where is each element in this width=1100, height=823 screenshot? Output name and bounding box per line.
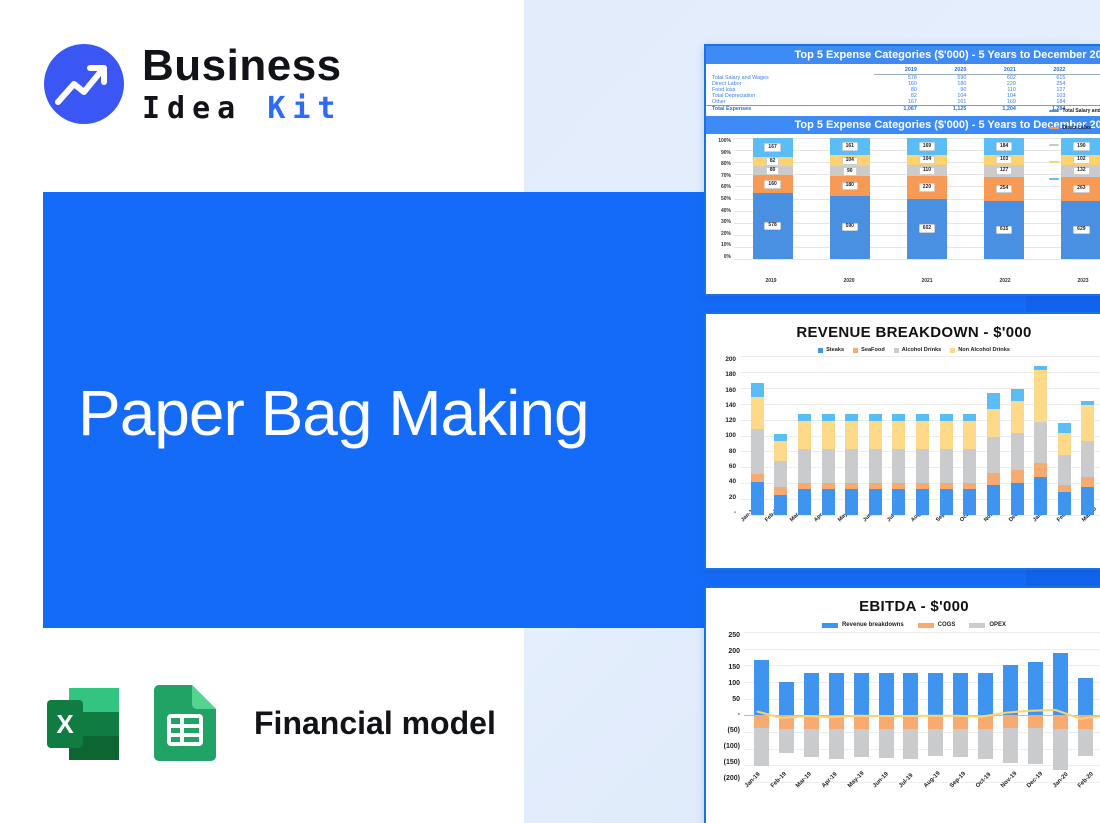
stacked-segment — [1011, 470, 1024, 483]
legend-swatch — [853, 348, 858, 353]
stacked-segment: 615 — [984, 201, 1024, 259]
stacked-segment — [822, 414, 835, 421]
logo-kit-text: Kit — [267, 91, 342, 126]
table-cell: 1,067 — [874, 106, 924, 113]
stacked-segment — [751, 383, 764, 397]
legend-label: SeaFood — [861, 347, 885, 353]
legend-swatch — [950, 348, 955, 353]
table-col-head: 2021 — [973, 67, 1023, 75]
table-col-head: 2020 — [924, 67, 974, 75]
stacked-segment: 102 — [1061, 155, 1100, 164]
stacked-y-axis: 100%90%80%70%60%50%40%30%20%10%0% — [708, 138, 734, 260]
legend-label: Revenue breakdowns — [842, 622, 904, 628]
stacked-segment — [798, 489, 811, 515]
stacked-segment — [987, 485, 1000, 515]
stacked-segment — [1034, 463, 1047, 477]
footer-label: Financial model — [254, 705, 496, 742]
stacked-segment — [963, 449, 976, 483]
stacked-segment: 127 — [984, 165, 1024, 177]
logo-line-2: Idea Kit — [142, 94, 343, 124]
stacked-bar — [987, 393, 1000, 515]
axis-tick: 80% — [708, 161, 731, 167]
axis-tick: 200 — [728, 648, 740, 655]
stacked-plot-area: 1678280160578161104901805901691041102206… — [734, 138, 1100, 260]
data-label: 629 — [1073, 226, 1089, 235]
stacked-segment — [963, 421, 976, 448]
table-cell-label: Total Expenses — [706, 106, 874, 113]
ebitda-line — [744, 632, 1100, 782]
stacked-segment: 578 — [753, 193, 793, 259]
legend-item: Non Alcohol Drinks — [950, 347, 1010, 353]
data-label: 615 — [996, 226, 1012, 235]
stacked-segment — [845, 414, 858, 421]
stacked-segment — [940, 489, 953, 515]
stacked-segment — [798, 421, 811, 448]
stacked-segment — [774, 441, 787, 461]
revenue-breakdown-card[interactable]: REVENUE BREAKDOWN - $'000 SteaksSeaFoodA… — [704, 312, 1100, 570]
data-label: 184 — [996, 142, 1012, 151]
revenue-legend: SteaksSeaFoodAlcohol DrinksNon Alcohol D… — [706, 347, 1100, 353]
stacked-segment — [892, 414, 905, 421]
stacked-segment: 190 — [1061, 138, 1100, 155]
stacked-bar — [1058, 423, 1071, 515]
stacked-segment — [963, 414, 976, 421]
axis-tick: 20% — [708, 231, 731, 237]
stacked-segment — [1081, 441, 1094, 477]
data-label: 127 — [996, 167, 1012, 176]
expense-table: 2019 2020 2021 2022 2023 Total Salary an… — [706, 67, 1100, 112]
data-label: 590 — [842, 223, 858, 232]
stacked-segment: 90 — [830, 166, 870, 176]
data-label: 103 — [996, 156, 1012, 165]
stacked-segment — [1058, 423, 1071, 433]
stacked-segment: 169 — [907, 138, 947, 155]
axis-tick: 180 — [725, 371, 736, 378]
stacked-segment — [916, 449, 929, 483]
stacked-segment — [1034, 370, 1047, 422]
stacked-segment — [892, 421, 905, 448]
stacked-segment — [963, 489, 976, 515]
axis-tick: 40% — [708, 208, 731, 214]
data-label: 104 — [919, 156, 935, 165]
legend-swatch — [1049, 178, 1059, 180]
legend-item: OPEX — [969, 622, 1006, 628]
expense-table-body: Total Salary and Wages578590602615629Dir… — [706, 75, 1100, 113]
axis-tick: 120 — [725, 417, 736, 424]
stacked-segment — [892, 449, 905, 483]
legend-label: Direct Labor — [1062, 125, 1091, 131]
data-label: 263 — [1073, 185, 1089, 194]
stacked-segment — [987, 393, 1000, 408]
stacked-segment: 104 — [907, 155, 947, 165]
axis-tick: - — [738, 711, 740, 718]
stacked-bar — [963, 414, 976, 515]
axis-tick: 250 — [728, 632, 740, 639]
table-total-row: Total Expenses1,0671,1251,2041,2841,316 — [706, 106, 1100, 113]
axis-tick: 20 — [729, 494, 736, 501]
table-cell: 1,125 — [924, 106, 974, 113]
ebitda-x-axis: Jan-19Feb-19Mar-19Apr-19May-19Jun-19Jul-… — [744, 782, 1100, 791]
stacked-segment: 161 — [830, 138, 870, 155]
stacked-segment — [774, 461, 787, 487]
stacked-segment: 104 — [830, 155, 870, 166]
stacked-segment: 160 — [753, 175, 793, 193]
ebitda-chart-title: EBITDA - $'000 — [706, 598, 1100, 615]
stacked-segment — [892, 489, 905, 515]
stacked-bar — [869, 414, 882, 515]
stacked-bar: 169104110220602 — [907, 138, 947, 259]
data-label: 254 — [996, 185, 1012, 194]
legend-swatch — [818, 348, 823, 353]
brand-logo: Business Idea Kit — [44, 44, 343, 124]
stacked-segment: 132 — [1061, 165, 1100, 177]
stacked-segment — [798, 414, 811, 421]
data-label: 104 — [842, 157, 858, 166]
legend-swatch — [1049, 144, 1059, 146]
revenue-plot-area — [740, 356, 1100, 516]
stacked-segment: 263 — [1061, 177, 1100, 201]
stacked-segment — [774, 434, 787, 441]
stacked-segment — [916, 489, 929, 515]
expense-table-title: Top 5 Expense Categories ($'000) - 5 Yea… — [706, 46, 1100, 64]
stacked-segment — [822, 421, 835, 448]
format-footer: X Financial model — [36, 676, 496, 770]
legend-item: Alcohol Drinks — [894, 347, 941, 353]
stacked-segment — [845, 489, 858, 515]
axis-tick: 60 — [729, 463, 736, 470]
legend-item: COGS — [918, 622, 956, 628]
stacked-segment — [774, 495, 787, 515]
stacked-segment — [916, 414, 929, 421]
data-label: 110 — [919, 167, 935, 176]
stacked-segment: 80 — [753, 166, 793, 175]
axis-tick: 70% — [708, 173, 731, 179]
expense-categories-card[interactable]: Top 5 Expense Categories ($'000) - 5 Yea… — [704, 44, 1100, 296]
stacked-segment — [869, 489, 882, 515]
legend-label: Alcohol Drinks — [902, 347, 941, 353]
stacked-bar — [940, 414, 953, 515]
stacked-segment — [1011, 433, 1024, 471]
legend-swatch — [969, 623, 985, 628]
legend-item: Direct Labor — [1049, 125, 1100, 131]
data-label: 190 — [1073, 142, 1089, 151]
stacked-segment: 82 — [753, 157, 793, 166]
axis-tick: 100 — [725, 432, 736, 439]
microsoft-excel-icon: X — [36, 676, 130, 770]
axis-tick: 10% — [708, 242, 731, 248]
stacked-bar — [1034, 366, 1047, 515]
axis-tick: 2021 — [907, 278, 947, 284]
ebitda-y-axis: 25020015010050-(50)(100)(150)(200) — [710, 632, 744, 782]
stacked-segment — [751, 397, 764, 429]
legend-item: Revenue breakdowns — [822, 622, 904, 628]
stacked-segment — [822, 489, 835, 515]
stacked-bar — [916, 414, 929, 515]
table-col-head: 2022 — [1023, 67, 1073, 75]
slide-canvas: Business Idea Kit Paper Bag Making X — [0, 0, 1100, 823]
stacked-bar: 184103127254615 — [984, 138, 1024, 259]
legend-label: OPEX — [989, 622, 1006, 628]
axis-tick: 140 — [725, 402, 736, 409]
axis-tick: 30% — [708, 219, 731, 225]
stacked-segment — [1081, 477, 1094, 487]
legend-label: Steaks — [826, 347, 844, 353]
stacked-segment: 220 — [907, 176, 947, 198]
google-sheets-icon — [146, 676, 224, 770]
data-label: 80 — [766, 167, 780, 176]
data-label: 180 — [842, 182, 858, 191]
table-col-head: 2019 — [874, 67, 924, 75]
legend-item: Steaks — [818, 347, 844, 353]
stacked-segment — [987, 473, 1000, 484]
stacked-bar — [892, 414, 905, 515]
stacked-bar — [822, 414, 835, 515]
expense-chart-title: Top 5 Expense Categories ($'000) - 5 Yea… — [706, 116, 1100, 134]
stacked-segment — [845, 421, 858, 448]
axis-tick: 150 — [728, 664, 740, 671]
data-label: 602 — [919, 224, 935, 233]
axis-tick: 2019 — [751, 278, 791, 284]
logo-line-1: Business — [142, 44, 343, 88]
axis-tick: (50) — [728, 727, 740, 734]
legend-item: SeaFood — [853, 347, 885, 353]
stacked-segment — [1081, 405, 1094, 440]
revenue-chart-body: 20018016014012010080604020- — [706, 356, 1100, 516]
growth-arrow-icon — [44, 44, 124, 124]
stacked-segment — [1058, 455, 1071, 485]
axis-tick: 2020 — [829, 278, 869, 284]
table-col-head: 2023 — [1072, 67, 1100, 75]
stacked-segment — [869, 449, 882, 483]
axis-tick: 90% — [708, 150, 731, 156]
stacked-segment — [987, 437, 1000, 474]
data-label: 169 — [919, 142, 935, 151]
stacked-segment — [1011, 401, 1024, 433]
ebitda-plot-area — [744, 632, 1100, 782]
axis-tick: - — [734, 509, 736, 516]
stacked-segment — [751, 482, 764, 515]
axis-tick: 80 — [729, 448, 736, 455]
data-label: 578 — [764, 222, 780, 231]
data-label: 161 — [842, 142, 858, 151]
table-cell: 1,204 — [973, 106, 1023, 113]
stacked-segment: 110 — [907, 165, 947, 176]
table-col-head — [706, 67, 874, 75]
legend-label: Non Alcohol Drinks — [958, 347, 1010, 353]
axis-tick: 60% — [708, 184, 731, 190]
axis-tick: 50% — [708, 196, 731, 202]
stacked-segment — [869, 414, 882, 421]
stacked-segment: 602 — [907, 199, 947, 259]
stacked-segment: 180 — [830, 176, 870, 195]
stacked-segment — [774, 487, 787, 495]
ebitda-chart-body: 25020015010050-(50)(100)(150)(200) — [706, 632, 1100, 782]
stacked-segment: 184 — [984, 138, 1024, 155]
axis-tick: 2023 — [1063, 278, 1100, 284]
stacked-segment — [1034, 477, 1047, 515]
stacked-segment — [845, 449, 858, 483]
stacked-segment — [822, 449, 835, 483]
axis-tick: (150) — [724, 759, 740, 766]
revenue-chart-title: REVENUE BREAKDOWN - $'000 — [706, 324, 1100, 341]
revenue-x-axis: Jan-19Feb-19Mar-19Apr-19May-19Jun-19Jul-… — [740, 517, 1100, 525]
stacked-segment — [1011, 483, 1024, 515]
data-label: 102 — [1073, 156, 1089, 165]
data-label: 82 — [766, 157, 780, 166]
stacked-segment — [1058, 433, 1071, 455]
stacked-bar — [1011, 389, 1024, 515]
stacked-segment — [987, 409, 1000, 437]
stacked-bar — [1081, 401, 1094, 515]
stacked-segment: 590 — [830, 196, 870, 259]
stacked-segment: 629 — [1061, 201, 1100, 259]
legend-swatch — [894, 348, 899, 353]
legend-swatch — [822, 623, 838, 628]
data-label: 132 — [1073, 167, 1089, 176]
stacked-bar — [751, 383, 764, 515]
legend-item: Total Salary and Wages — [1049, 108, 1100, 114]
stacked-bar: 1678280160578 — [753, 138, 793, 259]
data-label: 160 — [764, 180, 780, 189]
legend-swatch — [1049, 127, 1059, 129]
axis-tick: 50 — [732, 696, 740, 703]
stacked-segment — [751, 474, 764, 482]
expense-stacked-chart: 100%90%80%70%60%50%40%30%20%10%0% 167828… — [706, 134, 1100, 276]
data-label: 167 — [764, 143, 780, 152]
axis-tick: 100 — [728, 680, 740, 687]
ebitda-legend: Revenue breakdownsCOGSOPEX — [706, 622, 1100, 628]
axis-tick: (200) — [724, 775, 740, 782]
legend-swatch — [1049, 161, 1059, 163]
stacked-bar: 190102132263629 — [1061, 138, 1100, 259]
stacked-segment — [940, 414, 953, 421]
stacked-segment — [940, 421, 953, 448]
stacked-bar — [845, 414, 858, 515]
stacked-segment — [1011, 389, 1024, 401]
stacked-segment: 103 — [984, 155, 1024, 165]
axis-tick: 0% — [708, 254, 731, 260]
stacked-segment — [798, 449, 811, 483]
axis-tick: 200 — [725, 356, 736, 363]
stacked-segment: 167 — [753, 138, 793, 157]
stacked-bar: 16110490180590 — [830, 138, 870, 259]
stacked-segment: 254 — [984, 177, 1024, 201]
logo-idea-text: Idea — [142, 91, 267, 126]
stacked-segment — [916, 421, 929, 448]
table-header-row: 2019 2020 2021 2022 2023 — [706, 67, 1100, 75]
axis-tick: 100% — [708, 138, 731, 144]
axis-tick: 160 — [725, 387, 736, 394]
stacked-segment — [1081, 487, 1094, 515]
stacked-segment — [1034, 422, 1047, 463]
stacked-segment — [869, 421, 882, 448]
axis-tick: 40 — [729, 478, 736, 485]
stacked-segment — [751, 429, 764, 475]
ebitda-card[interactable]: EBITDA - $'000 Revenue breakdownsCOGSOPE… — [704, 586, 1100, 823]
svg-text:X: X — [56, 709, 74, 739]
legend-label: Total Salary and Wages — [1062, 108, 1100, 114]
legend-swatch — [1049, 110, 1059, 112]
stacked-bar — [774, 434, 787, 515]
axis-tick: 2022 — [985, 278, 1025, 284]
stacked-bar — [798, 414, 811, 515]
data-label: 220 — [919, 183, 935, 192]
stacked-segment — [1058, 492, 1071, 515]
revenue-y-axis: 20018016014012010080604020- — [710, 356, 740, 516]
legend-swatch — [918, 623, 934, 628]
data-label: 90 — [843, 167, 857, 176]
axis-tick: (100) — [724, 743, 740, 750]
stacked-x-axis: 20192020202120222023 — [732, 278, 1100, 284]
page-title: Paper Bag Making — [78, 376, 589, 450]
legend-label: COGS — [938, 622, 956, 628]
stacked-segment — [940, 449, 953, 483]
